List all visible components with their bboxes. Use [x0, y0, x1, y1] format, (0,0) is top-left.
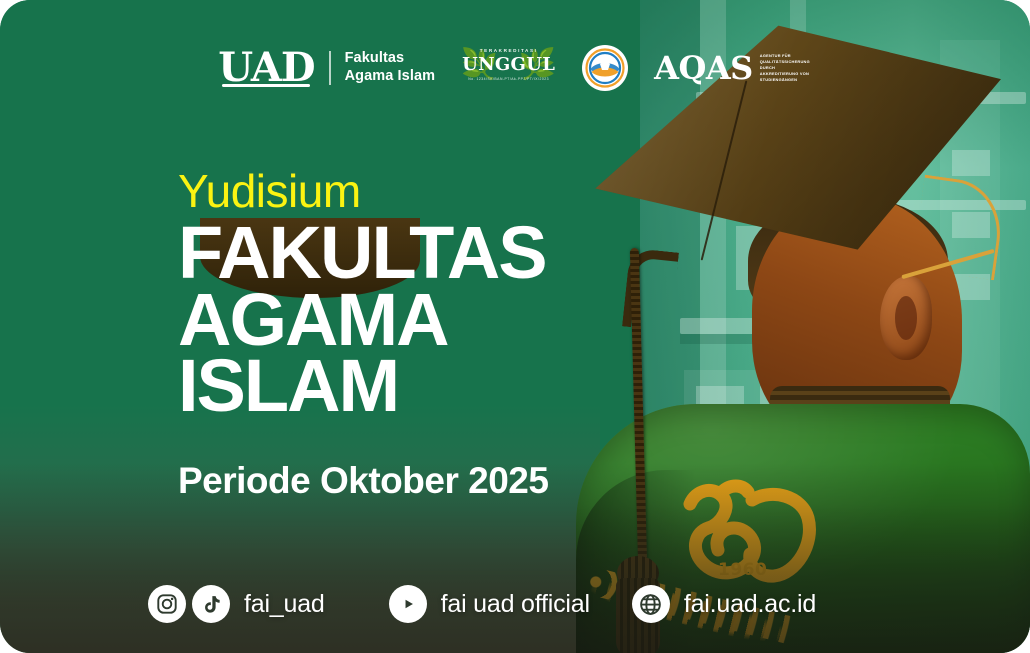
aqas-subtitle: AGENTUR FÜR QUALITÄTSSICHERUNG DURCH AKK… — [760, 53, 812, 83]
social-handle-website: fai.uad.ac.id — [684, 590, 816, 619]
logo-divider — [329, 51, 331, 85]
accreditation-seal-icon — [582, 45, 628, 91]
graduate-ear-inner — [895, 296, 917, 340]
accreditation-grade: UNGGUL — [461, 54, 556, 75]
uad-wordmark: UAD — [218, 48, 314, 88]
headline-block: Yudisium FAKULTAS AGAMA ISLAM Periode Ok… — [178, 168, 548, 502]
social-group-youtube[interactable]: fai uad official — [389, 585, 590, 623]
aqas-logo-lockup: AQAS AGENTUR FÜR QUALITÄTSSICHERUNG DURC… — [654, 52, 812, 84]
headline-line-2: AGAMA — [178, 287, 548, 354]
social-group-instagram-tiktok[interactable]: fai_uad — [148, 585, 325, 623]
uad-faculty-name: Fakultas Agama Islam — [345, 50, 436, 85]
uad-faculty-line-2: Agama Islam — [345, 68, 436, 86]
uad-faculty-line-1: Fakultas — [345, 50, 436, 68]
aqas-wordmark: AQAS — [654, 52, 753, 84]
uad-logo-lockup: UAD Fakultas Agama Islam — [218, 48, 435, 88]
headline-period: Periode Oktober 2025 — [178, 460, 548, 502]
logo-bar: UAD Fakultas Agama Islam 🌿 🌿 TERAKREDITA… — [0, 40, 1030, 96]
instagram-icon[interactable] — [148, 585, 186, 623]
accreditation-decree: No. 1234/SK/BAN-PT/Ak-PPJ/PT/IX/2023 — [461, 77, 556, 81]
headline-kicker: Yudisium — [178, 168, 548, 214]
youtube-icon[interactable] — [389, 585, 427, 623]
globe-icon[interactable] — [632, 585, 670, 623]
social-bar: fai_uad fai uad official — [148, 585, 816, 623]
yudisium-poster: 1960 UAD Fakultas Agama Islam — [0, 0, 1030, 653]
headline-line-1: FAKULTAS — [178, 220, 548, 287]
emblem-year: 1960 — [718, 560, 767, 580]
social-group-website[interactable]: fai.uad.ac.id — [632, 585, 816, 623]
social-handle-youtube: fai uad official — [441, 590, 590, 619]
accreditation-badge: 🌿 🌿 TERAKREDITASI UNGGUL No. 1234/SK/BAN… — [461, 44, 556, 92]
tiktok-icon[interactable] — [192, 585, 230, 623]
headline-line-3: ISLAM — [178, 353, 548, 420]
calligraphy-emblem-icon — [678, 470, 828, 600]
uad-underline — [222, 84, 309, 87]
accreditation-top-label: TERAKREDITASI — [461, 48, 556, 53]
social-handle-instagram-tiktok: fai_uad — [244, 590, 325, 619]
